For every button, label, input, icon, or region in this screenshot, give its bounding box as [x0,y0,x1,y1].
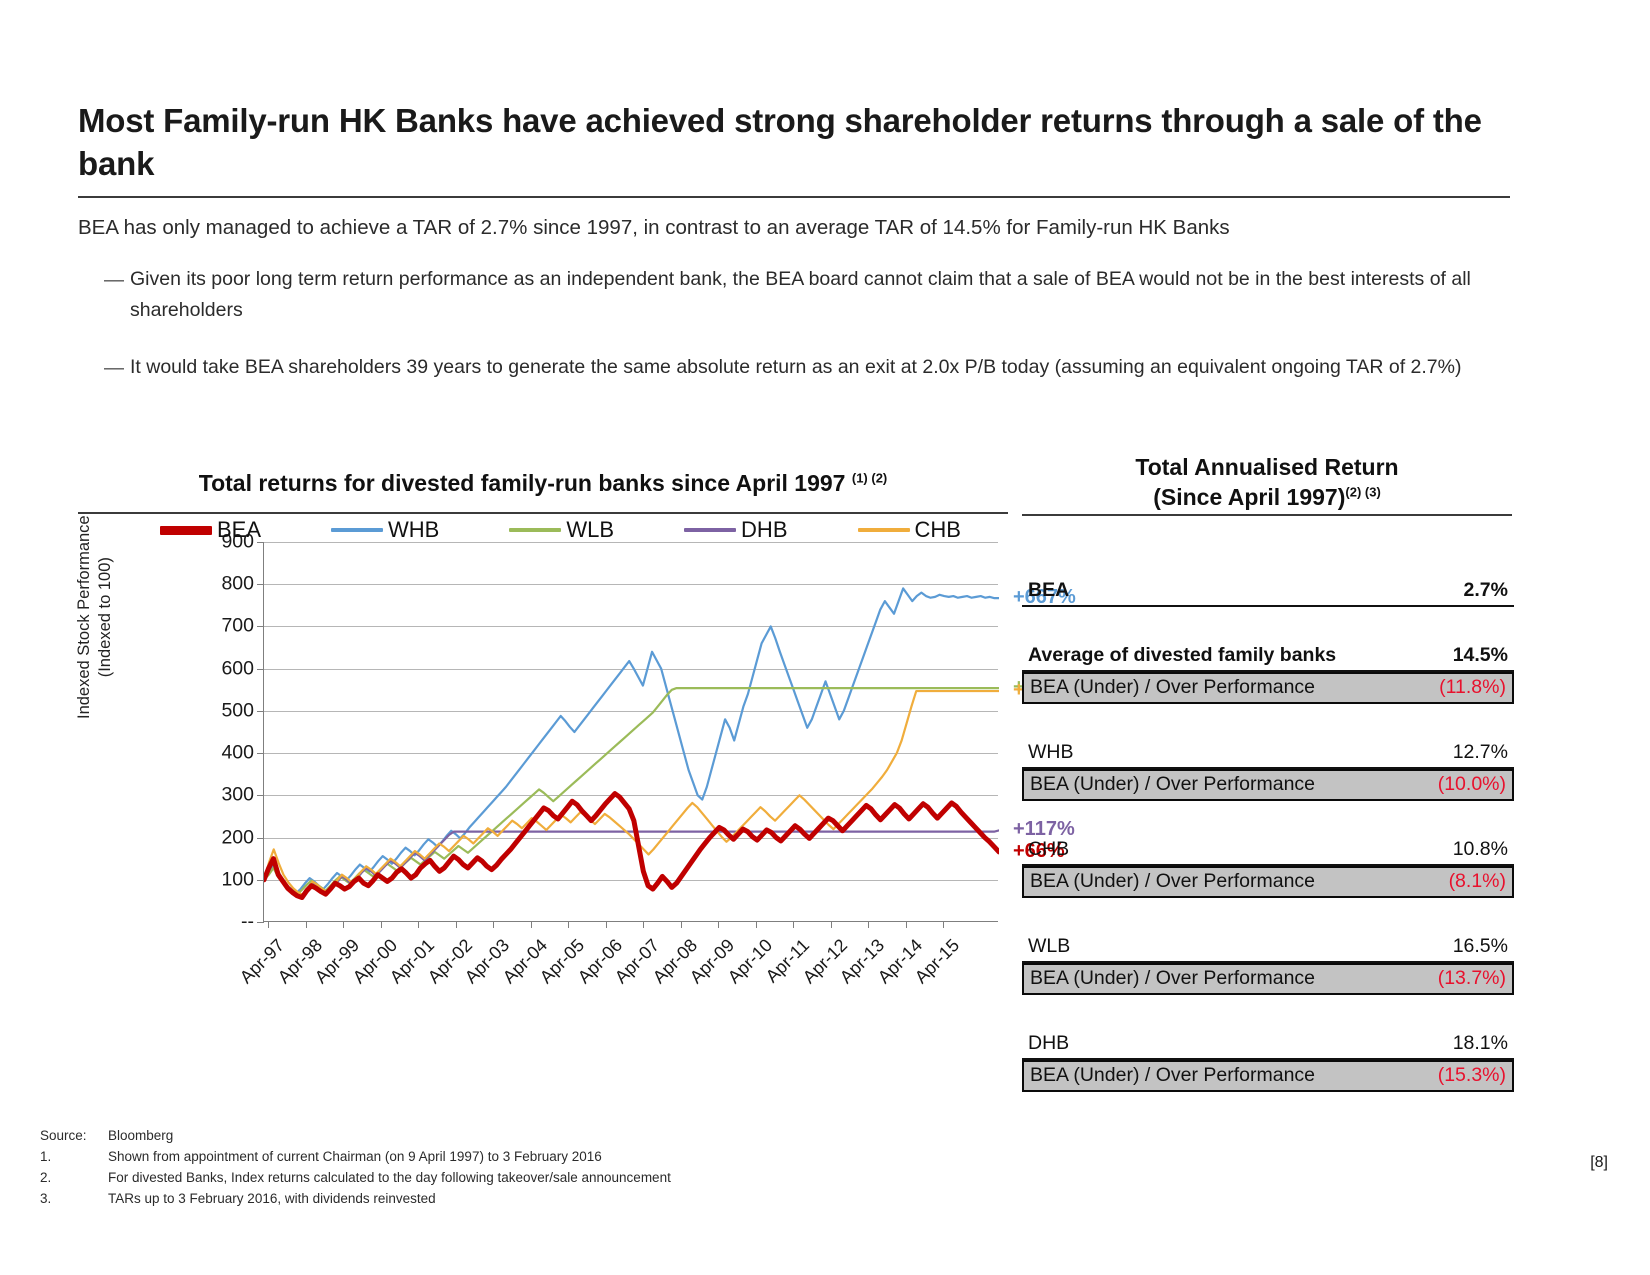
performance-label: BEA (Under) / Over Performance [1030,1064,1315,1087]
line-chart: Indexed Stock Performance (Indexed to 10… [78,524,1008,1124]
chart-title: Total returns for divested family-run ba… [78,470,1008,497]
legend-label: DHB [741,517,787,543]
legend-label: WHB [388,517,439,543]
table-spacer [1022,621,1514,643]
y-tick-mark [257,795,264,796]
table-spacer [1022,815,1514,837]
footnote-text: Bloomberg [108,1126,1140,1147]
performance-value: (8.1%) [1449,870,1506,893]
x-tick-mark [456,921,457,928]
performance-row: BEA (Under) / Over Performance(10.0%) [1022,769,1514,801]
footnote-key: 1. [40,1147,108,1168]
table-title-divider [1022,514,1512,516]
table-title-line2-text: (Since April 1997) [1153,484,1345,510]
series-line-whb [264,588,999,893]
legend-item-chb[interactable]: CHB [858,517,961,543]
row-value: 16.5% [1453,935,1508,958]
x-tick-mark [943,921,944,928]
performance-row: BEA (Under) / Over Performance(11.8%) [1022,672,1514,704]
row-value: 12.7% [1453,741,1508,764]
footnote-key: 2. [40,1168,108,1189]
performance-label: BEA (Under) / Over Performance [1030,676,1315,699]
chart-title-footnotes: (1) (2) [852,470,887,485]
y-tick-mark [257,669,264,670]
performance-row: BEA (Under) / Over Performance(15.3%) [1022,1060,1514,1092]
x-tick-mark [756,921,757,928]
performance-label: BEA (Under) / Over Performance [1030,773,1315,796]
y-tick-label: 400 [221,742,254,765]
bullet-dash-icon: — [104,352,130,384]
row-label: BEA [1028,579,1069,602]
page-title: Most Family-run HK Banks have achieved s… [78,100,1498,186]
legend-swatch-icon [684,528,736,532]
legend-swatch-icon [331,528,383,532]
table-title-footnotes: (2) (3) [1345,485,1380,500]
row-value: 18.1% [1453,1032,1508,1055]
y-tick-label: 700 [221,615,254,638]
table-spacer [1022,1009,1514,1031]
bullet-dash-icon: — [104,264,130,296]
x-tick-mark [531,921,532,928]
list-item: — Given its poor long term return perfor… [104,264,1516,326]
y-tick-label: -- [241,911,254,934]
row-label: DHB [1028,1032,1069,1055]
legend-swatch-icon [509,528,561,532]
performance-label: BEA (Under) / Over Performance [1030,967,1315,990]
x-tick-mark [306,921,307,928]
x-tick-mark [718,921,719,928]
footnote-text: Shown from appointment of current Chairm… [108,1147,1140,1168]
table-row: Average of divested family banks14.5% [1022,643,1514,672]
legend-item-dhb[interactable]: DHB [684,517,787,543]
table-row: WHB12.7% [1022,740,1514,769]
y-tick-label: 600 [221,657,254,680]
footnote-line: 1.Shown from appointment of current Chai… [40,1147,1140,1168]
performance-row: BEA (Under) / Over Performance(13.7%) [1022,963,1514,995]
y-axis-title-line1: Indexed Stock Performance [74,515,95,719]
returns-table: BEA2.7%Average of divested family banks1… [1022,578,1514,1128]
x-tick-mark [606,921,607,928]
slide: Most Family-run HK Banks have achieved s… [0,0,1650,1275]
row-value: 14.5% [1453,644,1508,667]
y-tick-label: 300 [221,784,254,807]
row-label: Average of divested family banks [1028,644,1336,667]
chart-title-divider [78,512,1008,514]
performance-value: (10.0%) [1438,773,1506,796]
table-row: CHB10.8% [1022,837,1514,866]
row-value: 10.8% [1453,838,1508,861]
x-tick-mark [681,921,682,928]
y-tick-mark [257,584,264,585]
table-group: CHB10.8%BEA (Under) / Over Performance(8… [1022,837,1514,898]
x-tick-mark [868,921,869,928]
row-value: 2.7% [1464,579,1508,602]
performance-value: (11.8%) [1439,676,1506,699]
y-tick-mark [257,922,264,923]
y-tick-mark [257,880,264,881]
x-tick-mark [793,921,794,928]
x-tick-mark [643,921,644,928]
row-label: CHB [1028,838,1069,861]
legend-label: CHB [915,517,961,543]
legend-label: BEA [217,517,261,543]
table-title-line2: (Since April 1997)(2) (3) [1022,482,1512,512]
y-tick-label: 100 [221,868,254,891]
legend-swatch-icon [160,526,212,535]
y-tick-label: 200 [221,826,254,849]
y-tick-mark [257,753,264,754]
footnote-line: Source:Bloomberg [40,1126,1140,1147]
x-tick-mark [418,921,419,928]
table-spacer [1022,912,1514,934]
y-axis-title-line2: (Indexed to 100) [95,515,116,719]
series-lines [264,542,999,922]
legend-item-whb[interactable]: WHB [331,517,439,543]
legend-item-bea[interactable]: BEA [160,517,261,543]
performance-value: (15.3%) [1438,1064,1506,1087]
chart-title-text: Total returns for divested family-run ba… [199,470,846,496]
series-line-chb [264,691,999,895]
row-label: WHB [1028,741,1074,764]
x-tick-mark [268,921,269,928]
y-tick-mark [257,626,264,627]
x-tick-mark [568,921,569,928]
subheading: BEA has only managed to achieve a TAR of… [78,215,1508,242]
y-tick-mark [257,838,264,839]
table-title-line1: Total Annualised Return [1022,452,1512,482]
y-tick-label: 500 [221,699,254,722]
footnote-text: For divested Banks, Index returns calcul… [108,1168,1140,1189]
table-spacer [1022,718,1514,740]
list-item: — It would take BEA shareholders 39 year… [104,352,1516,384]
y-tick-mark [257,711,264,712]
table-row: DHB18.1% [1022,1031,1514,1060]
footnote-key: Source: [40,1126,108,1147]
page-number: [8] [1590,1154,1608,1172]
table-row: WLB16.5% [1022,934,1514,963]
legend-label: WLB [566,517,614,543]
row-label: WLB [1028,935,1070,958]
table-group: BEA2.7% [1022,578,1514,607]
footnote-text: TARs up to 3 February 2016, with dividen… [108,1189,1140,1210]
table-title: Total Annualised Return (Since April 199… [1022,452,1512,513]
table-group: DHB18.1%BEA (Under) / Over Performance(1… [1022,1031,1514,1092]
y-tick-label: 800 [221,573,254,596]
table-group: WLB16.5%BEA (Under) / Over Performance(1… [1022,934,1514,995]
footnotes: Source:Bloomberg1.Shown from appointment… [40,1126,1140,1210]
x-tick-mark [381,921,382,928]
chart-legend: BEAWHBWLBDHBCHB [160,517,950,543]
footnote-line: 3.TARs up to 3 February 2016, with divid… [40,1189,1140,1210]
performance-label: BEA (Under) / Over Performance [1030,870,1315,893]
performance-value: (13.7%) [1438,967,1506,990]
plot-area: --100200300400500600700800900Apr-97Apr-9… [263,542,998,922]
bullet-text: Given its poor long term return performa… [130,264,1516,326]
footnote-key: 3. [40,1189,108,1210]
bullet-text: It would take BEA shareholders 39 years … [130,352,1516,383]
table-group: Average of divested family banks14.5%BEA… [1022,643,1514,704]
y-axis-title: Indexed Stock Performance (Indexed to 10… [74,515,115,719]
series-line-wlb [264,688,999,894]
legend-swatch-icon [858,528,910,532]
table-spacer [1022,1106,1514,1128]
table-row: BEA2.7% [1022,578,1514,607]
x-tick-mark [831,921,832,928]
bullet-list: — Given its poor long term return perfor… [104,264,1516,410]
performance-row: BEA (Under) / Over Performance(8.1%) [1022,866,1514,898]
footnote-line: 2.For divested Banks, Index returns calc… [40,1168,1140,1189]
series-line-dhb [264,830,999,896]
table-group: WHB12.7%BEA (Under) / Over Performance(1… [1022,740,1514,801]
x-tick-mark [493,921,494,928]
title-divider [78,196,1510,198]
legend-item-wlb[interactable]: WLB [509,517,614,543]
series-line-bea [264,794,999,898]
x-tick-mark [906,921,907,928]
x-tick-mark [343,921,344,928]
